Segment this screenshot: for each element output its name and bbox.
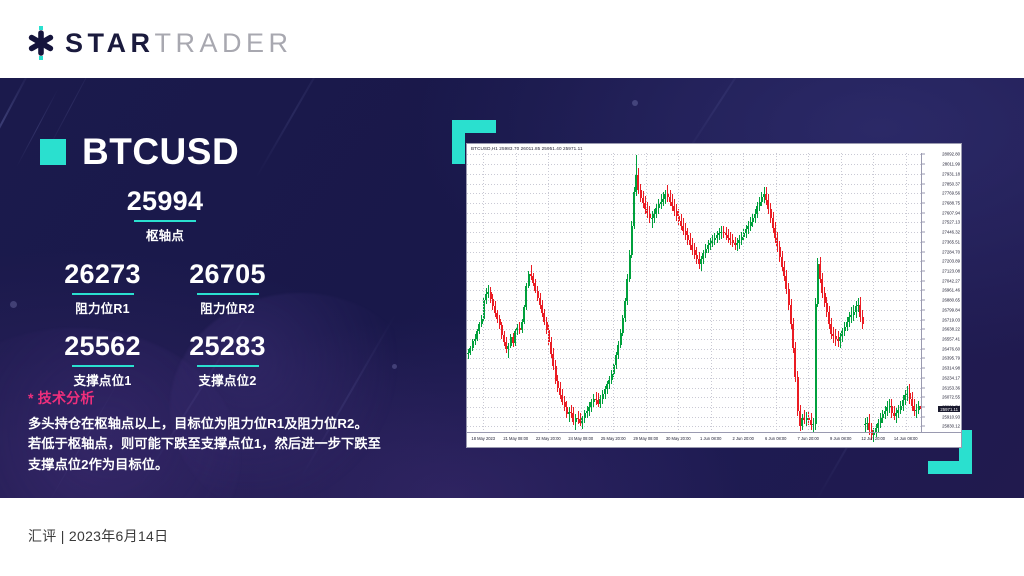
support-row: 25562 支撑点位1 25283 支撑点位2 bbox=[40, 331, 290, 389]
chart-candle-body bbox=[655, 208, 657, 214]
chart-candle-body bbox=[754, 214, 756, 219]
chart-price-tick bbox=[922, 164, 925, 165]
chart-candle-body bbox=[745, 229, 747, 233]
chart-candle-wick bbox=[569, 407, 570, 421]
chart-time-label: 12 Jun 20:00 bbox=[861, 436, 885, 441]
chart-gridline-horizontal bbox=[467, 378, 922, 379]
chart-candle-body bbox=[850, 315, 852, 317]
chart-candle-body bbox=[741, 237, 743, 241]
chart-candle-body bbox=[660, 202, 662, 204]
level-support-2: 25283 支撑点位2 bbox=[165, 331, 290, 389]
chart-gridline-horizontal bbox=[467, 407, 922, 408]
chart-candle-body bbox=[662, 199, 664, 201]
chart-price-label: 26153.36 bbox=[942, 385, 960, 390]
chart-price-label: 27688.75 bbox=[942, 201, 960, 206]
chart-candle-body bbox=[815, 304, 817, 424]
chart-gridline-horizontal bbox=[467, 174, 922, 175]
chart-candle-body bbox=[779, 247, 781, 257]
chart-price-tick bbox=[922, 406, 925, 407]
chart-price-tick bbox=[922, 416, 925, 417]
chart-gridline-horizontal bbox=[467, 388, 922, 389]
chart-candle-body bbox=[848, 317, 850, 322]
decor-dot bbox=[10, 301, 17, 308]
chart-gridline-horizontal bbox=[467, 213, 922, 214]
chart-candle-body bbox=[738, 240, 740, 242]
chart-price-label: 26557.41 bbox=[942, 336, 960, 341]
level-value: 26705 bbox=[165, 259, 290, 290]
chart-candle-body bbox=[797, 377, 799, 411]
chart-candle-body bbox=[824, 293, 826, 303]
chart-price-label: 27446.32 bbox=[942, 230, 960, 235]
chart-candle-body bbox=[902, 400, 904, 406]
chart-candle-body bbox=[877, 423, 879, 428]
level-label: 支撑点位2 bbox=[165, 370, 290, 389]
chart-candle-body bbox=[546, 322, 548, 330]
chart-gridline-horizontal bbox=[467, 261, 922, 262]
chart-candle-body bbox=[492, 299, 494, 306]
chart-price-tick bbox=[922, 377, 925, 378]
chart-candle-body bbox=[467, 353, 469, 354]
chart-candle-body bbox=[767, 200, 769, 208]
chart-price-label: 26961.46 bbox=[942, 288, 960, 293]
chart-plot-area[interactable] bbox=[467, 153, 922, 433]
chart-candle-body bbox=[472, 341, 474, 348]
chart-gridline-vertical bbox=[581, 153, 582, 433]
chart-candle-body bbox=[718, 233, 720, 235]
chart-price-tick bbox=[922, 290, 925, 291]
chart-candle-body bbox=[853, 312, 855, 314]
chart-candle-body bbox=[788, 289, 790, 305]
chart-time-label: 9 Jun 08:00 bbox=[830, 436, 851, 441]
chart-price-tick bbox=[922, 348, 925, 349]
chart-candle-body bbox=[606, 384, 608, 389]
chart-price-tick bbox=[922, 193, 925, 194]
chart-price-label: 26395.79 bbox=[942, 356, 960, 361]
level-value: 25283 bbox=[165, 331, 290, 362]
logo-tick-bottom bbox=[39, 56, 43, 60]
brand-logo: STARTRADER bbox=[26, 26, 293, 60]
chart-candle-body bbox=[629, 255, 631, 279]
chart-candle-body bbox=[494, 306, 496, 313]
chart-price-tick bbox=[922, 387, 925, 388]
chart-price-tick bbox=[922, 241, 925, 242]
chart-price-tick bbox=[922, 232, 925, 233]
level-divider bbox=[197, 293, 259, 295]
chart-candle-body bbox=[485, 294, 487, 300]
chart-candle-wick bbox=[865, 418, 866, 432]
chart-gridline-vertical bbox=[516, 153, 517, 433]
chart-price-tick bbox=[922, 173, 925, 174]
chart-candle-body bbox=[611, 374, 613, 380]
chart-gridline-horizontal bbox=[467, 329, 922, 330]
chart-candle-body bbox=[588, 407, 590, 411]
chart-time-label: 6 Jun 08:00 bbox=[765, 436, 786, 441]
chart-gridline-vertical bbox=[548, 153, 549, 433]
chart-candle-body bbox=[844, 327, 846, 332]
chart-candle-body bbox=[633, 192, 635, 226]
chart-candle-body bbox=[915, 410, 917, 411]
chart-candle-body bbox=[821, 279, 823, 293]
chart-candle-body bbox=[624, 301, 626, 318]
chart-candle-body bbox=[521, 322, 523, 330]
chart-price-label: 28011.99 bbox=[942, 162, 960, 167]
chart-candle-body bbox=[501, 325, 503, 335]
chart-price-label: 26799.84 bbox=[942, 307, 960, 312]
chart-candle-body bbox=[882, 414, 884, 418]
teal-square-marker bbox=[40, 139, 66, 165]
chart-candle-body bbox=[590, 402, 592, 407]
chart-price-label: 25830.12 bbox=[942, 424, 960, 429]
chart-gridline-horizontal bbox=[467, 358, 922, 359]
level-value: 25562 bbox=[40, 331, 165, 362]
chart-time-label: 7 Jun 20:00 bbox=[798, 436, 819, 441]
chart-time-label: 14 Jun 08:00 bbox=[894, 436, 918, 441]
chart-price-tick bbox=[922, 358, 925, 359]
chart-gridline-vertical bbox=[776, 153, 777, 433]
chart-gridline-horizontal bbox=[467, 193, 922, 194]
chart-candle-body bbox=[476, 331, 478, 338]
chart-price-tick bbox=[922, 251, 925, 252]
chart-gridline-horizontal bbox=[467, 222, 922, 223]
chart-gridline-vertical bbox=[808, 153, 809, 433]
level-divider bbox=[72, 293, 134, 295]
chart-candle-body bbox=[658, 204, 660, 208]
chart-gridline-vertical bbox=[906, 153, 907, 433]
resistance-row: 26273 阻力位R1 26705 阻力位R2 bbox=[40, 259, 290, 317]
chart-candle-body bbox=[884, 411, 886, 415]
chart-price-label: 27284.70 bbox=[942, 249, 960, 254]
chart-candle-body bbox=[826, 303, 828, 313]
chart-candle-body bbox=[474, 339, 476, 341]
level-label: 支撑点位1 bbox=[40, 370, 165, 389]
chart-price-label: 26880.65 bbox=[942, 298, 960, 303]
chart-price-tick bbox=[922, 154, 925, 155]
chart-candle-body bbox=[794, 348, 796, 377]
chart-price-label: 27850.37 bbox=[942, 181, 960, 186]
level-resistance-2: 26705 阻力位R2 bbox=[165, 259, 290, 317]
chart-candle-body bbox=[846, 322, 848, 327]
chart-candle-body bbox=[911, 399, 913, 406]
chart-candle-body bbox=[830, 324, 832, 334]
level-divider bbox=[197, 365, 259, 367]
analysis-line-2: 若低于枢轴点，则可能下跌至支撑点位1，然后进一步下跌至 bbox=[28, 434, 408, 454]
analysis-heading: * 技术分析 bbox=[28, 388, 408, 408]
chart-candle-body bbox=[532, 276, 534, 283]
chart-price-label: 27527.13 bbox=[942, 220, 960, 225]
page-title: BTCUSD bbox=[82, 133, 239, 170]
chart-candle-body bbox=[705, 249, 707, 254]
level-divider bbox=[72, 365, 134, 367]
level-value: 25994 bbox=[40, 186, 290, 217]
level-value: 26273 bbox=[40, 259, 165, 290]
chart-price-axis: 28092.8028011.9927931.1827850.3727769.56… bbox=[921, 153, 961, 433]
chart-gridline-horizontal bbox=[467, 349, 922, 350]
chart-candle-body bbox=[622, 318, 624, 332]
chart-candle-body bbox=[772, 218, 774, 228]
chart-title: BTCUSD,H1 25983.70 26011.85 25951.40 259… bbox=[467, 144, 961, 153]
chart-price-label: 25910.93 bbox=[942, 414, 960, 419]
analysis-line-3: 支撑点位2作为目标位。 bbox=[28, 455, 408, 475]
technical-analysis-block: * 技术分析 多头持仓在枢轴点以上，目标位为阻力位R1及阻力位R2。 若低于枢轴… bbox=[28, 388, 408, 475]
chart-gridline-horizontal bbox=[467, 232, 922, 233]
chart-price-tick bbox=[922, 329, 925, 330]
chart-gridline-vertical bbox=[711, 153, 712, 433]
chart-candle-body bbox=[700, 259, 702, 264]
chart-candle-body bbox=[761, 197, 763, 202]
chart-candle-body bbox=[785, 276, 787, 289]
chart-candle-body bbox=[615, 355, 617, 365]
chart-price-label: 27042.27 bbox=[942, 278, 960, 283]
chart-price-tick bbox=[922, 300, 925, 301]
footer-caption: 汇评 | 2023年6月14日 bbox=[28, 526, 168, 546]
chart-candle-body bbox=[812, 424, 814, 425]
chart-candle-body bbox=[626, 279, 628, 302]
chart-candle-body bbox=[752, 218, 754, 222]
chart-price-tick bbox=[922, 397, 925, 398]
chart-candle-body bbox=[617, 345, 619, 356]
chart-candle-body bbox=[537, 291, 539, 298]
chart-gridline-vertical bbox=[743, 153, 744, 433]
chart-gridline-vertical bbox=[613, 153, 614, 433]
chart-candle-body bbox=[897, 410, 899, 414]
chart-candle-body bbox=[900, 406, 902, 410]
chart-gridline-horizontal bbox=[467, 203, 922, 204]
chart-candle-body bbox=[637, 175, 639, 189]
decor-dot bbox=[632, 100, 638, 106]
chart-candle-body bbox=[561, 395, 563, 402]
chart-candle-body bbox=[559, 388, 561, 395]
chart-candle-body bbox=[608, 380, 610, 385]
chart-candle-body bbox=[555, 366, 557, 380]
chart-candle-body bbox=[557, 381, 559, 388]
chart-candle-body bbox=[790, 305, 792, 324]
chart-candle-body bbox=[895, 413, 897, 415]
chart-candle-body bbox=[539, 298, 541, 305]
brand-name-light: TRADER bbox=[155, 28, 293, 58]
chart-candle-body bbox=[469, 348, 471, 353]
chart-gridline-horizontal bbox=[467, 339, 922, 340]
chart-candle-body bbox=[523, 307, 525, 321]
level-divider bbox=[134, 220, 196, 222]
chart-price-label: 27769.56 bbox=[942, 191, 960, 196]
footer-bar: 汇评 | 2023年6月14日 bbox=[0, 498, 1024, 576]
chart-time-label: 22 May 20:00 bbox=[536, 436, 561, 441]
chart-candle-body bbox=[631, 226, 633, 255]
chart-time-label: 18 May 2023 bbox=[471, 436, 495, 441]
chart-candle-body bbox=[770, 209, 772, 219]
chart-price-tick bbox=[922, 426, 925, 427]
chart-gridline-horizontal bbox=[467, 368, 922, 369]
chart-candle-body bbox=[620, 333, 622, 345]
chart-candle-body bbox=[864, 424, 866, 425]
chart-price-tick bbox=[922, 319, 925, 320]
price-chart[interactable]: BTCUSD,H1 25983.70 26011.85 25951.40 259… bbox=[466, 143, 962, 448]
chart-gridline-horizontal bbox=[467, 184, 922, 185]
chart-candle-body bbox=[550, 342, 552, 354]
chart-candle-body bbox=[855, 306, 857, 312]
level-resistance-1: 26273 阻力位R1 bbox=[40, 259, 165, 317]
symbol-title-row: BTCUSD bbox=[40, 133, 239, 170]
chart-time-label: 30 May 20:00 bbox=[666, 436, 691, 441]
chart-candle-body bbox=[736, 243, 738, 245]
chart-candle-body bbox=[862, 317, 864, 324]
chart-candle-body bbox=[750, 222, 752, 226]
chart-price-label: 26234.17 bbox=[942, 375, 960, 380]
level-pivot: 25994 枢轴点 bbox=[40, 186, 290, 244]
chart-gridline-horizontal bbox=[467, 397, 922, 398]
slide-root: STARTRADER BTCUSD 25994 枢轴点 bbox=[0, 0, 1024, 576]
chart-price-label: 26638.22 bbox=[942, 327, 960, 332]
chart-price-label: 27203.89 bbox=[942, 259, 960, 264]
chart-gridline-vertical bbox=[483, 153, 484, 433]
chart-gridline-horizontal bbox=[467, 164, 922, 165]
chart-candle-body bbox=[481, 319, 483, 324]
chart-candle-body bbox=[552, 354, 554, 366]
chart-price-label: 26476.60 bbox=[942, 346, 960, 351]
asterisk-logo-icon bbox=[26, 26, 56, 60]
chart-time-axis: 18 May 202321 May 08:0022 May 20:0024 Ma… bbox=[467, 432, 961, 447]
chart-candle-body bbox=[599, 399, 601, 404]
bracket-arm-vertical bbox=[452, 120, 465, 164]
chart-candle-body bbox=[478, 324, 480, 331]
chart-candle-body bbox=[651, 218, 653, 219]
chart-price-label: 27365.51 bbox=[942, 239, 960, 244]
chart-candle-body bbox=[781, 257, 783, 267]
chart-price-label: 27607.94 bbox=[942, 210, 960, 215]
chart-candle-body bbox=[702, 253, 704, 259]
chart-price-tick bbox=[922, 368, 925, 369]
chart-candle-body bbox=[819, 264, 821, 278]
chart-candle-body bbox=[828, 312, 830, 324]
brand-name-bold: STAR bbox=[65, 28, 155, 58]
chart-gridline-vertical bbox=[678, 153, 679, 433]
brand-wordmark: STARTRADER bbox=[65, 30, 293, 57]
chart-time-label: 24 May 08:00 bbox=[568, 436, 593, 441]
analysis-line-1: 多头持仓在枢轴点以上，目标位为阻力位R1及阻力位R2。 bbox=[28, 414, 408, 434]
chart-price-label: 28092.80 bbox=[942, 152, 960, 157]
level-label: 枢轴点 bbox=[40, 225, 290, 244]
level-label: 阻力位R1 bbox=[40, 298, 165, 317]
chart-candle-body bbox=[640, 190, 642, 198]
chart-candle-body bbox=[503, 335, 505, 342]
chart-price-tick bbox=[922, 280, 925, 281]
chart-gridline-vertical bbox=[841, 153, 842, 433]
chart-candle-body bbox=[886, 407, 888, 411]
chart-price-tick bbox=[922, 212, 925, 213]
chart-candle-body bbox=[534, 283, 536, 290]
pivot-levels-group: 25994 枢轴点 26273 阻力位R1 26705 阻力位R2 2556 bbox=[40, 186, 290, 389]
chart-candle-body bbox=[653, 214, 655, 219]
chart-candle-body bbox=[541, 305, 543, 313]
chart-price-label: 27931.18 bbox=[942, 171, 960, 176]
chart-candle-body bbox=[880, 418, 882, 423]
chart-candle-body bbox=[604, 389, 606, 394]
chart-price-label: 26314.98 bbox=[942, 366, 960, 371]
chart-price-tick bbox=[922, 270, 925, 271]
chart-candle-body bbox=[586, 411, 588, 413]
chart-price-tick bbox=[922, 261, 925, 262]
chart-gridline-horizontal bbox=[467, 426, 922, 427]
chart-time-label: 1 Jun 08:00 bbox=[700, 436, 721, 441]
chart-candle-body bbox=[525, 286, 527, 308]
chart-gridline-horizontal bbox=[467, 271, 922, 272]
chart-candle-body bbox=[507, 346, 509, 350]
level-support-1: 25562 支撑点位1 bbox=[40, 331, 165, 389]
chart-price-tick bbox=[922, 222, 925, 223]
chart-candle-wick bbox=[804, 410, 805, 424]
chart-gridline-horizontal bbox=[467, 417, 922, 418]
chart-gridline-vertical bbox=[646, 153, 647, 433]
chart-price-tick bbox=[922, 203, 925, 204]
chart-price-tick bbox=[922, 183, 925, 184]
header-bar: STARTRADER bbox=[0, 0, 1024, 78]
chart-gridline-vertical bbox=[873, 153, 874, 433]
chart-candle-body bbox=[783, 267, 785, 277]
chart-price-tick bbox=[922, 309, 925, 310]
chart-candle-body bbox=[490, 292, 492, 299]
chart-candle-wick bbox=[575, 414, 576, 430]
chart-candle-body bbox=[714, 238, 716, 240]
chart-candle-body bbox=[868, 423, 870, 430]
chart-price-tick bbox=[922, 338, 925, 339]
chart-last-price-tag: 25971.11 bbox=[938, 406, 960, 412]
chart-price-label: 27123.08 bbox=[942, 268, 960, 273]
chart-candle-body bbox=[707, 245, 709, 249]
chart-time-label: 29 May 08:00 bbox=[633, 436, 658, 441]
chart-candle-body bbox=[747, 226, 749, 230]
chart-gridline-horizontal bbox=[467, 154, 922, 155]
chart-candle-body bbox=[543, 313, 545, 321]
chart-candle-body bbox=[584, 413, 586, 418]
chart-candle-body bbox=[716, 235, 718, 237]
chart-time-label: 21 May 08:00 bbox=[503, 436, 528, 441]
level-label: 阻力位R2 bbox=[165, 298, 290, 317]
chart-candle-body bbox=[759, 202, 761, 207]
asterisk-logo-glyph bbox=[26, 30, 56, 56]
chart-candle-body bbox=[602, 394, 604, 399]
chart-candle-body bbox=[891, 406, 893, 413]
chart-time-label: 2 Jun 20:00 bbox=[733, 436, 754, 441]
chart-price-label: 26719.03 bbox=[942, 317, 960, 322]
chart-candle-body bbox=[859, 305, 861, 317]
chart-gridline-horizontal bbox=[467, 300, 922, 301]
chart-candle-body bbox=[792, 324, 794, 348]
chart-candle-body bbox=[756, 206, 758, 213]
chart-price-label: 26072.55 bbox=[942, 395, 960, 400]
chart-time-label: 25 May 20:00 bbox=[601, 436, 626, 441]
